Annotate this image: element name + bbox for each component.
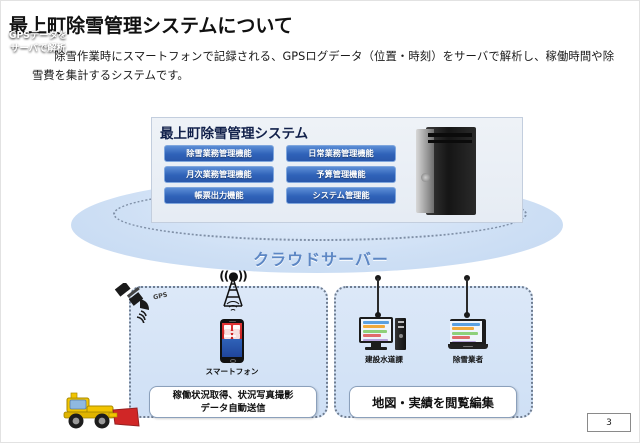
function-button-budget[interactable]: 予算管理機能: [286, 166, 396, 183]
office-callout: 地図・実績を閲覧編集: [349, 386, 517, 418]
connector-dot-bottom-laptop: [464, 312, 470, 318]
desktop-label: 建設水道課: [344, 354, 424, 365]
wifi-signal-icon: [224, 301, 242, 315]
snow-plow-vehicle-icon: [59, 382, 147, 434]
page-title: 最上町除雪管理システムについて: [9, 11, 293, 38]
field-callout: 稼働状況取得、状況写真撮影 データ自動送信: [149, 386, 317, 418]
field-callout-line-1: 稼働状況取得、状況写真撮影: [173, 389, 294, 402]
phone-speaker: [229, 321, 236, 322]
phone-screen: [222, 323, 243, 357]
laptop-screen-content: [450, 321, 482, 342]
laptop-icon: [448, 319, 488, 350]
phone-app-grid: [222, 339, 243, 357]
function-button-system-admin[interactable]: システム管理能: [286, 187, 396, 204]
function-button-report-output[interactable]: 帳票出力機能: [164, 187, 274, 204]
gps-satellite-icon: [114, 283, 160, 323]
slide-canvas: 最上町除雪管理システムについて 除雪作業時にスマートフォンで記録される、GPSロ…: [0, 0, 640, 443]
smartphone-label: スマートフォン: [190, 366, 274, 377]
laptop-label: 除雪業者: [428, 354, 508, 365]
cloud-server-label: クラウドサーバー: [1, 246, 640, 270]
connector-line-laptop: [466, 278, 468, 314]
monitor-base: [365, 347, 387, 350]
phone-home-button: [230, 359, 236, 364]
server-power-button: [421, 173, 430, 182]
smartphone-icon: [220, 319, 244, 363]
server-drive-slot: [428, 133, 472, 137]
server-drive-slot-2: [428, 140, 472, 143]
pc-tower: [395, 318, 406, 350]
page-number: 3: [587, 413, 631, 432]
system-panel-title: 最上町除雪管理システム: [160, 122, 308, 142]
function-button-monthly-work[interactable]: 月次業務管理機能: [164, 166, 274, 183]
function-button-snow-removal[interactable]: 除雪業務管理機能: [164, 145, 274, 162]
field-callout-line-2: データ自動送信: [173, 402, 294, 415]
function-button-daily-work[interactable]: 日常業務管理機能: [286, 145, 396, 162]
laptop-keyboard-base: [448, 344, 488, 349]
monitor-screen-content: [361, 319, 391, 341]
slide-description: 除雪作業時にスマートフォンで記録される、GPSログデータ（位置・時刻）をサーバで…: [32, 47, 614, 85]
server-tower-icon: [416, 127, 488, 215]
function-button-grid: 除雪業務管理機能 日常業務管理機能 月次業務管理機能 予算管理機能 帳票出力機能…: [164, 145, 396, 204]
slide-description-text: 除雪作業時にスマートフォンで記録される、GPSログデータ（位置・時刻）をサーバで…: [32, 50, 614, 82]
connector-line-desktop: [377, 278, 379, 314]
desktop-computer-icon: [359, 317, 409, 351]
